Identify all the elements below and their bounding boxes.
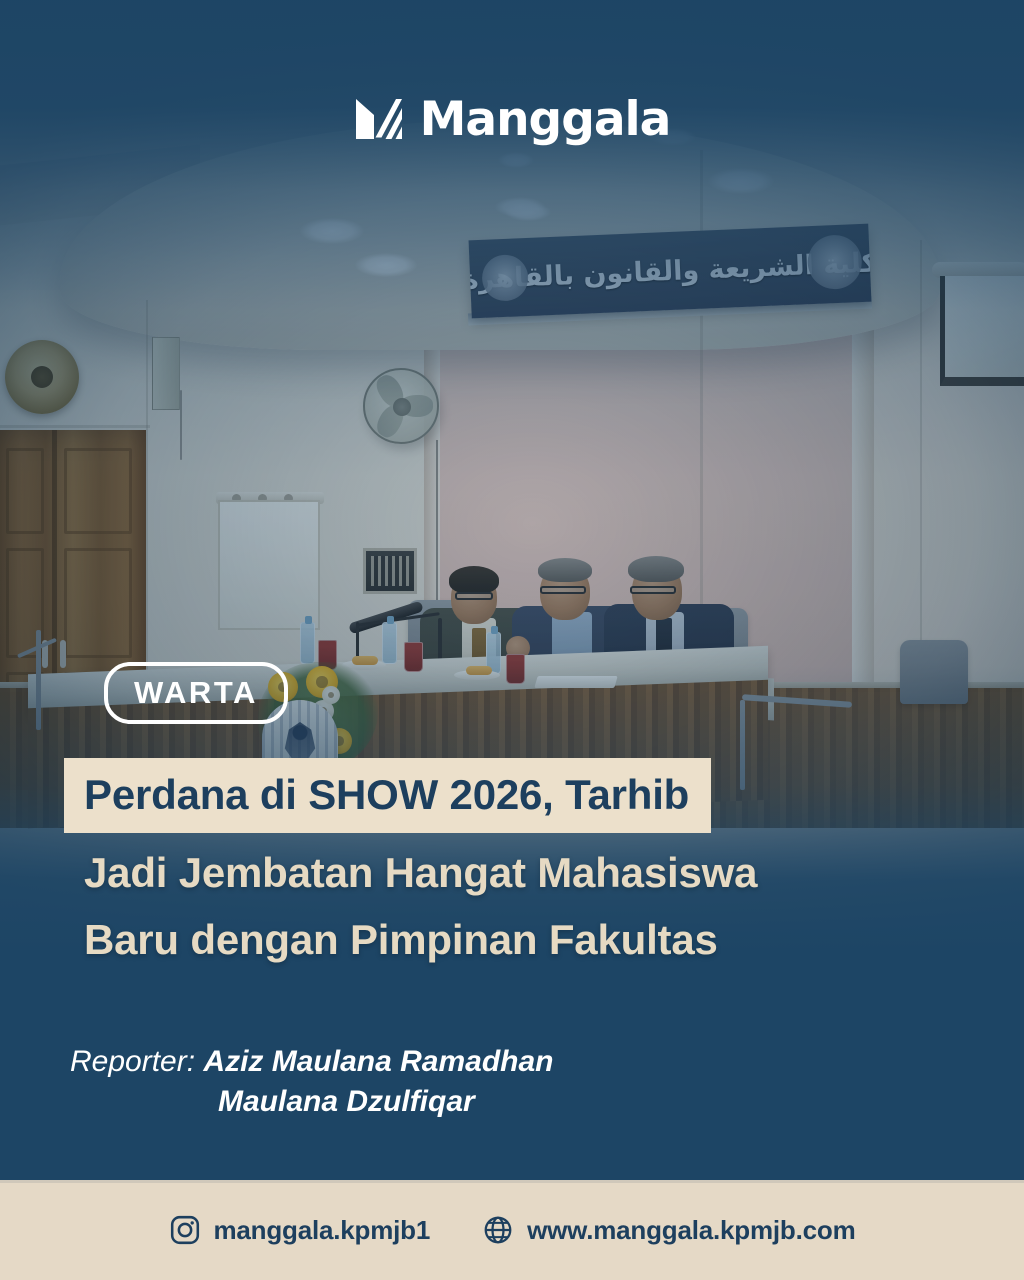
photo-navy-gradient-overlay — [0, 0, 1024, 1190]
brand-logo: Manggala — [0, 92, 1024, 147]
reporter-label: Reporter: — [70, 1045, 195, 1078]
headline-line-2: Jadi Jembatan Hangat Mahasiswa — [84, 846, 757, 901]
reporter-credit: Reporter: Aziz Maulana Ramadhan Maulana … — [70, 1042, 553, 1122]
brand-name: Manggala — [420, 92, 671, 147]
background-photo: كلية الشريعة والقانون بالقاهرة — [0, 0, 1024, 1190]
poster-canvas: كلية الشريعة والقانون بالقاهرة — [0, 0, 1024, 1280]
headline-line-1: Perdana di SHOW 2026, Tarhib — [64, 758, 711, 833]
warta-badge: WARTA — [104, 662, 288, 724]
footer-bar: manggala.kpmjb1 www.manggala.kpmjb.com — [0, 1180, 1024, 1280]
headline-block: Perdana di SHOW 2026, Tarhib Jadi Jembat… — [0, 758, 1024, 967]
footer-website[interactable]: www.manggala.kpmjb.com — [482, 1214, 855, 1246]
instagram-handle: manggala.kpmjb1 — [214, 1215, 431, 1246]
footer-instagram[interactable]: manggala.kpmjb1 — [169, 1214, 431, 1246]
reporter-name-1: Aziz Maulana Ramadhan — [203, 1045, 553, 1078]
reporter-line-2: Maulana Dzulfiqar — [70, 1082, 553, 1122]
globe-icon — [482, 1214, 514, 1246]
instagram-icon — [169, 1214, 201, 1246]
reporter-line-1: Reporter: Aziz Maulana Ramadhan — [70, 1042, 553, 1082]
reporter-name-2: Maulana Dzulfiqar — [218, 1085, 475, 1118]
manggala-logo-mark-icon — [354, 97, 404, 143]
headline-line-3: Baru dengan Pimpinan Fakultas — [84, 913, 718, 968]
website-url: www.manggala.kpmjb.com — [527, 1215, 855, 1246]
